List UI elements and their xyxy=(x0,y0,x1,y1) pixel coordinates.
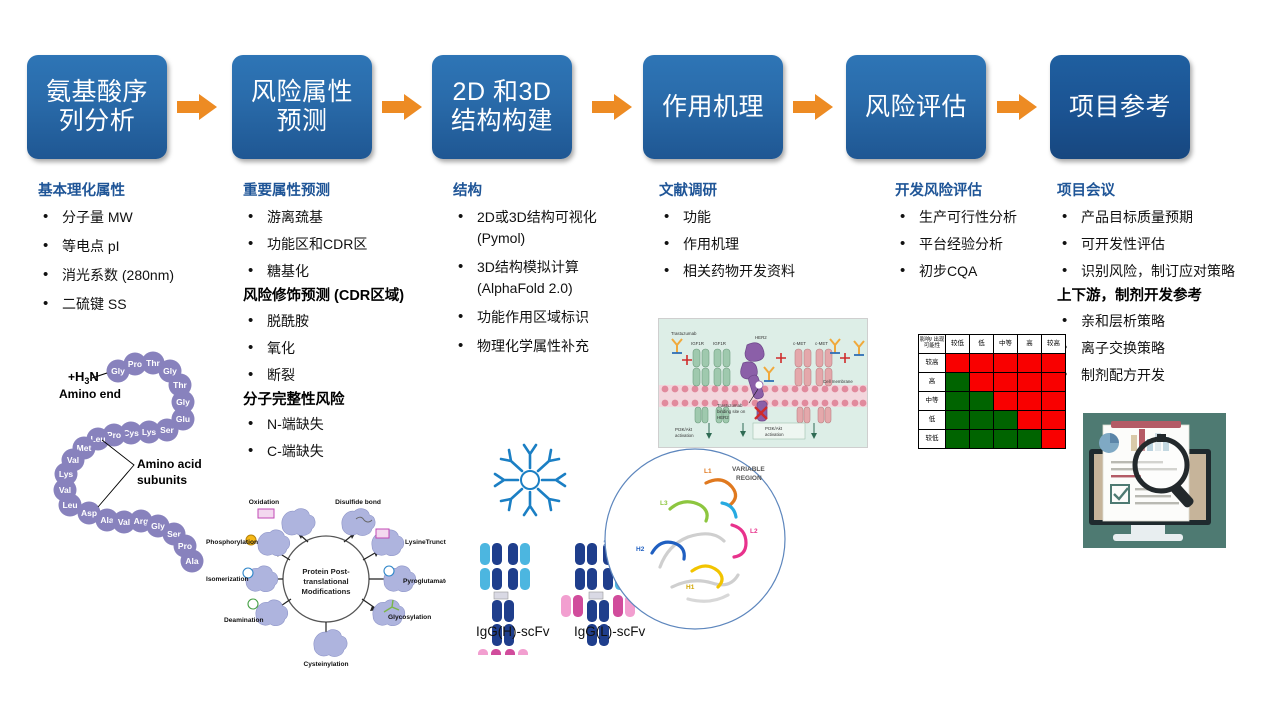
antibody-label-1: IgG(H)-scFv xyxy=(476,624,550,639)
list-item: 消光系数 (280nm) xyxy=(38,265,234,286)
svg-text:Ala: Ala xyxy=(100,515,114,525)
flow-step-2[interactable]: 风险属性预测 xyxy=(232,55,372,159)
matrix-row: 中等 xyxy=(919,392,1066,411)
column-2-list-b: 脱酰胺 氧化 断裂 xyxy=(243,311,448,386)
svg-text:Pro: Pro xyxy=(178,541,192,551)
svg-text:Glu: Glu xyxy=(176,414,190,424)
svg-text:Ala: Ala xyxy=(185,556,199,566)
column-2-subheading-1: 风险修饰预测 (CDR区域) xyxy=(243,288,448,305)
cdr-label-variable-region: VARIABLE xyxy=(732,466,765,473)
her2-label-cmet-2: c-MET xyxy=(815,341,828,346)
list-item: 制剂配方开发 xyxy=(1057,365,1277,386)
list-item: 2D或3D结构可视化 (Pymol) xyxy=(453,207,653,249)
flow-step-2-label: 风险属性预测 xyxy=(251,78,353,136)
matrix-cell xyxy=(946,392,970,411)
cdr-structure-closeup: L1 L3 L2 H2 H1 VARIABLE REGION xyxy=(600,447,800,647)
matrix-cell xyxy=(970,411,994,430)
svg-text:Gly: Gly xyxy=(163,366,177,376)
matrix-cell xyxy=(994,354,1018,373)
cdr-label-l1: L1 xyxy=(704,468,712,475)
her2-label-pi3k-2: activation xyxy=(675,433,694,438)
column-4-list: 功能 作用机理 相关药物开发资料 xyxy=(659,207,859,282)
amino-end-label: Amino end xyxy=(59,387,121,401)
list-item-line: 3D结构模拟计算 xyxy=(477,259,579,275)
matrix-row-header: 高 xyxy=(919,373,946,392)
her2-label-pi3k-1: PI3K/Akt xyxy=(675,427,693,432)
list-item: 功能 xyxy=(659,207,859,228)
list-item: N-端缺失 xyxy=(243,414,448,435)
her2-label-cmet-1: c-MET xyxy=(793,341,806,346)
svg-text:Cys: Cys xyxy=(123,428,139,438)
matrix-cell xyxy=(1018,373,1042,392)
svg-text:Val: Val xyxy=(59,485,71,495)
ptm-label-pyroglutamate: Pyroglutamate xyxy=(403,578,446,585)
list-item: 离子交换策略 xyxy=(1057,338,1277,359)
column-2-list-a: 游离巯基 功能区和CDR区 糖基化 xyxy=(243,207,448,282)
matrix-cell xyxy=(1018,392,1042,411)
flow-step-3[interactable]: 2D 和3D结构构建 xyxy=(432,55,572,159)
svg-text:Gly: Gly xyxy=(111,366,125,376)
list-item: 相关药物开发资料 xyxy=(659,261,859,282)
ptm-label-deamination: Deamination xyxy=(224,617,264,624)
amino-end-formula: +H3N xyxy=(68,369,99,386)
matrix-col-header: 中等 xyxy=(994,335,1018,354)
svg-text:Gly: Gly xyxy=(176,397,190,407)
matrix-cell xyxy=(970,373,994,392)
matrix-cell xyxy=(1018,354,1042,373)
her2-label-igf1r-2: IGF1R xyxy=(713,341,726,346)
column-6-heading: 项目会议 xyxy=(1057,183,1277,200)
flow-step-1-label: 氨基酸序列分析 xyxy=(46,78,148,136)
right-arrow-icon-1 xyxy=(177,93,217,121)
column-4-heading: 文献调研 xyxy=(659,183,859,200)
process-flow-row: 氨基酸序列分析 风险属性预测 2D 和3D结构构建 作用机理 风险评估 项目参考 xyxy=(0,55,1280,160)
list-item: 氧化 xyxy=(243,338,448,359)
flow-step-5-label: 风险评估 xyxy=(865,93,967,122)
cdr-label-h2: H2 xyxy=(636,546,645,553)
her2-label-binding-site-2: binding site on xyxy=(717,409,746,414)
svg-text:Thr: Thr xyxy=(173,380,187,390)
ptm-label-oxidation: Oxidation xyxy=(249,499,279,506)
flow-step-6-label: 项目参考 xyxy=(1069,93,1171,122)
svg-text:Leu: Leu xyxy=(62,500,77,510)
matrix-row-header: 低 xyxy=(919,411,946,430)
list-item-line: (AlphaFold 2.0) xyxy=(477,278,653,299)
matrix-corner-label: 影响/ 出现可能性 xyxy=(919,335,946,354)
her2-signalling-pathway-figure: Trastuzumab IGF1R IGF1R HER2 c-MET c-MET… xyxy=(658,318,868,448)
svg-text:Pro: Pro xyxy=(128,359,142,369)
document-review-illustration xyxy=(1083,413,1226,548)
matrix-row-header: 中等 xyxy=(919,392,946,411)
matrix-row-header: 较低 xyxy=(919,430,946,449)
column-6-subheading: 上下游，制剂开发参考 xyxy=(1057,288,1277,305)
ptm-label-isomerization: Isomerization xyxy=(206,576,249,583)
cdr-label-l3: L3 xyxy=(660,500,668,507)
column-6-list-a: 产品目标质量预期 可开发性评估 识别风险，制订应对策略 xyxy=(1057,207,1277,282)
her2-label-trastuzumab: Trastuzumab xyxy=(671,331,697,336)
flow-step-6[interactable]: 项目参考 xyxy=(1050,55,1190,159)
matrix-row-header: 较高 xyxy=(919,354,946,373)
her2-label-cell-membrane: Cell membrane xyxy=(823,379,853,384)
risk-assessment-matrix: 影响/ 出现可能性 较低 低 中等 高 较高 较高 高 中等 xyxy=(918,334,1068,454)
column-literature: 文献调研 功能 作用机理 相关药物开发资料 xyxy=(659,183,859,288)
matrix-col-header: 高 xyxy=(1018,335,1042,354)
svg-text:Arg: Arg xyxy=(134,516,149,526)
column-3-list: 2D或3D结构可视化 (Pymol) 3D结构模拟计算 (AlphaFold 2… xyxy=(453,207,653,357)
cdr-label-variable-region-2: REGION xyxy=(736,475,762,482)
cdr-label-l2: L2 xyxy=(750,528,758,535)
her2-label-pi3k-4: activation xyxy=(765,432,784,437)
ptm-label-disulfide-bond: Disulfide bond xyxy=(335,499,381,506)
list-item: 断裂 xyxy=(243,365,448,386)
svg-text:Asp: Asp xyxy=(81,508,97,518)
ptm-label-phosphorylation: Phosphorylation xyxy=(206,539,258,546)
list-item: 作用机理 xyxy=(659,234,859,255)
risk-matrix-table: 影响/ 出现可能性 较低 低 中等 高 较高 较高 高 中等 xyxy=(918,334,1066,449)
matrix-cell xyxy=(946,411,970,430)
matrix-cell xyxy=(946,430,970,449)
ptm-center-line-3: Modifications xyxy=(302,587,351,596)
subunits-label-1: Amino acid xyxy=(137,457,202,471)
svg-text:Thr: Thr xyxy=(146,358,160,368)
column-project-meeting: 项目会议 产品目标质量预期 可开发性评估 识别风险，制订应对策略 上下游，制剂开… xyxy=(1057,183,1277,392)
flow-step-4[interactable]: 作用机理 xyxy=(643,55,783,159)
list-item: 亲和层析策略 xyxy=(1057,311,1277,332)
matrix-cell xyxy=(994,411,1018,430)
list-item: 二硫键 SS xyxy=(38,294,234,315)
column-basic-properties: 基本理化属性 分子量 MW 等电点 pI 消光系数 (280nm) 二硫键 SS xyxy=(38,183,234,323)
right-arrow-icon-3 xyxy=(592,93,632,121)
flow-step-1[interactable]: 氨基酸序列分析 xyxy=(27,55,167,159)
matrix-col-header: 较高 xyxy=(1042,335,1066,354)
matrix-cell xyxy=(1042,354,1066,373)
matrix-row: 高 xyxy=(919,373,1066,392)
list-item: 糖基化 xyxy=(243,261,448,282)
matrix-cell xyxy=(1018,411,1042,430)
her2-label-binding-site-1: Trastuzumab xyxy=(717,403,743,408)
list-item: 产品目标质量预期 xyxy=(1057,207,1277,228)
matrix-header-row: 影响/ 出现可能性 较低 低 中等 高 较高 xyxy=(919,335,1066,354)
ptm-label-glycosylation: Glycosylation xyxy=(388,614,431,621)
her2-label-binding-site-3: HER2 xyxy=(717,415,729,420)
list-item: 功能区和CDR区 xyxy=(243,234,448,255)
column-structure: 结构 2D或3D结构可视化 (Pymol) 3D结构模拟计算 (AlphaFol… xyxy=(453,183,653,365)
column-6-list-b: 亲和层析策略 离子交换策略 制剂配方开发 xyxy=(1057,311,1277,386)
svg-text:Ser: Ser xyxy=(160,425,174,435)
list-item: 3D结构模拟计算 (AlphaFold 2.0) xyxy=(453,257,653,299)
list-item-line: 2D或3D结构可视化 xyxy=(477,209,597,225)
matrix-row: 低 xyxy=(919,411,1066,430)
list-item: 识别风险，制订应对策略 xyxy=(1057,261,1277,282)
matrix-cell xyxy=(1042,392,1066,411)
matrix-cell xyxy=(946,373,970,392)
matrix-cell xyxy=(1042,373,1066,392)
her2-label-igf1r-1: IGF1R xyxy=(691,341,704,346)
column-1-list: 分子量 MW 等电点 pI 消光系数 (280nm) 二硫键 SS xyxy=(38,207,234,315)
matrix-cell xyxy=(946,354,970,373)
matrix-cell xyxy=(970,354,994,373)
matrix-cell xyxy=(1042,411,1066,430)
her2-label-pi3k-3: PI3K/Akt xyxy=(765,426,783,431)
flow-step-5[interactable]: 风险评估 xyxy=(846,55,986,159)
subunits-label-2: subunits xyxy=(137,473,187,487)
right-arrow-icon-4 xyxy=(793,93,833,121)
ptm-label-cysteinylation: Cysteinylation xyxy=(303,661,348,668)
column-3-heading: 结构 xyxy=(453,183,653,200)
matrix-cell xyxy=(994,392,1018,411)
column-1-heading: 基本理化属性 xyxy=(38,183,234,200)
list-item: 物理化学属性补充 xyxy=(453,336,653,357)
list-item: 可开发性评估 xyxy=(1057,234,1277,255)
protein-ptm-wheel-diagram: Protein Post- translational Modification… xyxy=(206,488,446,670)
list-item-line: (Pymol) xyxy=(477,228,653,249)
matrix-cell xyxy=(994,430,1018,449)
right-arrow-icon-2 xyxy=(382,93,422,121)
list-item: C-端缺失 xyxy=(243,441,448,462)
ptm-label-lysine-trunction: LysineTrunction xyxy=(405,539,446,546)
flow-step-4-label: 作用机理 xyxy=(662,93,764,122)
svg-text:Val: Val xyxy=(118,517,130,527)
svg-text:Gly: Gly xyxy=(151,521,165,531)
matrix-cell xyxy=(970,430,994,449)
her2-label-her2: HER2 xyxy=(755,335,767,340)
column-2-heading: 重要属性预测 xyxy=(243,183,448,200)
matrix-col-header: 较低 xyxy=(946,335,970,354)
list-item: 游离巯基 xyxy=(243,207,448,228)
right-arrow-icon-5 xyxy=(997,93,1037,121)
ptm-center-line-2: translational xyxy=(303,577,348,586)
matrix-col-header: 低 xyxy=(970,335,994,354)
flow-step-3-label: 2D 和3D结构构建 xyxy=(451,78,553,136)
list-item: 功能作用区域标识 xyxy=(453,307,653,328)
cdr-label-h1: H1 xyxy=(686,584,695,591)
matrix-cell xyxy=(1018,430,1042,449)
matrix-cell xyxy=(1042,430,1066,449)
ptm-center-line-1: Protein Post- xyxy=(302,567,350,576)
column-2-list-c: N-端缺失 C-端缺失 xyxy=(243,414,448,462)
column-key-attributes: 重要属性预测 游离巯基 功能区和CDR区 糖基化 风险修饰预测 (CDR区域) … xyxy=(243,183,448,468)
list-item: 等电点 pI xyxy=(38,236,234,257)
list-item: 脱酰胺 xyxy=(243,311,448,332)
matrix-cell xyxy=(994,373,1018,392)
svg-text:Lys: Lys xyxy=(142,427,157,437)
svg-text:Lys: Lys xyxy=(59,469,74,479)
list-item: 分子量 MW xyxy=(38,207,234,228)
matrix-row: 较低 xyxy=(919,430,1066,449)
matrix-row: 较高 xyxy=(919,354,1066,373)
column-2-subheading-2: 分子完整性风险 xyxy=(243,392,448,409)
matrix-cell xyxy=(970,392,994,411)
